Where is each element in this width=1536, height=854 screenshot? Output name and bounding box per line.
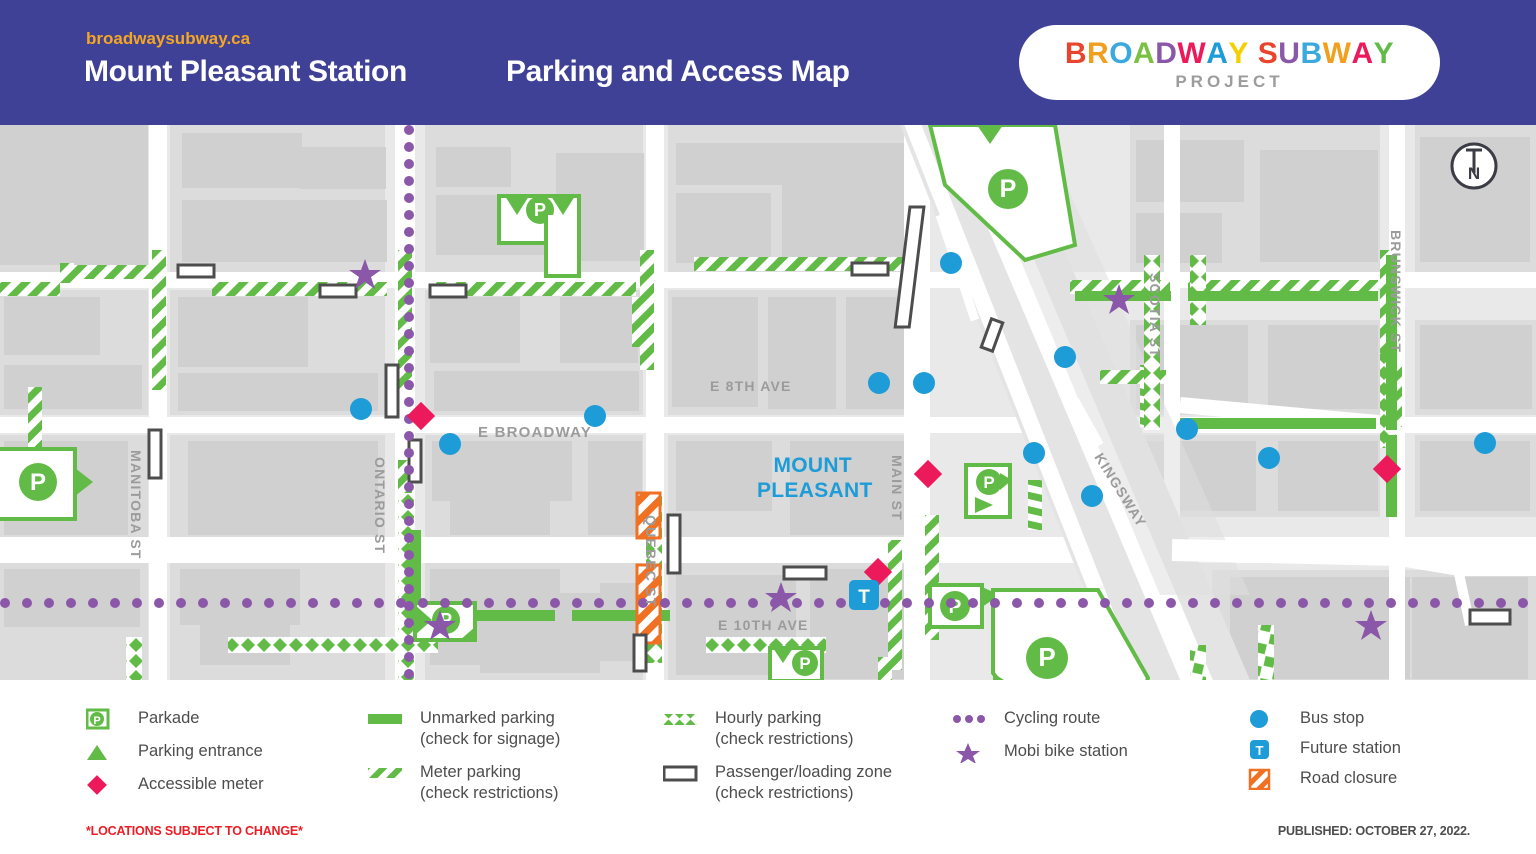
page-subtitle: Parking and Access Map <box>506 55 850 89</box>
mobi-bike-station-icon <box>952 741 992 763</box>
legend-column: P Parkade Parking entrance Accessible me… <box>86 708 264 802</box>
station-label-line2: PLEASANT <box>757 478 873 503</box>
station-label-line1: MOUNT <box>757 453 852 478</box>
svg-text:P: P <box>1038 642 1055 672</box>
passenger-loading-icon <box>663 762 703 784</box>
legend-sublabel: (check restrictions) <box>420 783 560 804</box>
svg-text:N: N <box>1468 164 1480 183</box>
svg-text:T: T <box>1256 743 1264 758</box>
legend-sublabel: (check restrictions) <box>715 729 892 750</box>
legend-label: Cycling route <box>1004 708 1128 729</box>
header-url[interactable]: broadwaysubway.ca <box>86 29 250 49</box>
legend-column: Bus stop T Future station Road closure <box>1248 708 1401 796</box>
legend-item-unmarked-parking: Unmarked parking (check for signage) <box>368 708 560 750</box>
legend-label: Parking entrance <box>138 741 264 762</box>
legend-label: Meter parking <box>420 762 560 783</box>
svg-text:P: P <box>93 715 100 727</box>
parkade-icon: P <box>86 708 126 730</box>
parking-entrance-icon <box>86 741 126 763</box>
legend-label: Future station <box>1300 738 1401 759</box>
broadway-subway-logo: BROADWAY SUBWAY PROJECT <box>1019 25 1440 100</box>
logo-wordmark: BROADWAY SUBWAY <box>1019 37 1440 71</box>
future-station-icon: T <box>1248 738 1288 760</box>
legend-sublabel: (check for signage) <box>420 729 560 750</box>
footer-disclaimer: *LOCATIONS SUBJECT TO CHANGE* <box>86 824 303 838</box>
cycling-route-icon <box>952 708 992 730</box>
legend-column: Cycling route Mobi bike station <box>952 708 1128 769</box>
compass-rose: N <box>1452 144 1496 188</box>
page-title: Mount Pleasant Station <box>84 55 407 89</box>
station-label: MOUNT PLEASANT <box>757 453 873 503</box>
legend-item-meter-parking: Meter parking (check restrictions) <box>368 762 560 804</box>
legend-item-passenger-loading: Passenger/loading zone (check restrictio… <box>663 762 892 804</box>
road-closure-icon <box>1248 768 1288 790</box>
legend-column: Hourly parking (check restrictions) Pass… <box>663 708 892 811</box>
legend-item-bus-stop: Bus stop <box>1248 708 1401 729</box>
hourly-parking-icon <box>663 708 703 730</box>
legend-item-accessible-meter: Accessible meter <box>86 774 264 795</box>
bus-stop-icon <box>1248 708 1288 730</box>
legend-label: Accessible meter <box>138 774 264 795</box>
legend-item-hourly-parking: Hourly parking (check restrictions) <box>663 708 892 750</box>
svg-text:P: P <box>983 473 994 492</box>
legend-sublabel: (check restrictions) <box>715 783 892 804</box>
parking-access-map[interactable]: P P P P <box>0 125 1536 680</box>
unmarked-parking-icon <box>368 708 408 730</box>
future-station-marker: T <box>849 580 879 610</box>
svg-text:P: P <box>1000 175 1017 203</box>
parkade-marker: P <box>966 465 1012 517</box>
parkade-marker: P <box>770 648 822 680</box>
legend-label: Unmarked parking <box>420 708 560 729</box>
legend-item-road-closure: Road closure <box>1248 768 1401 789</box>
meter-parking-icon <box>368 762 408 784</box>
legend-label: Road closure <box>1300 768 1401 789</box>
road-closure-zones <box>637 493 660 643</box>
svg-text:P: P <box>30 469 46 496</box>
legend-item-cycling-route: Cycling route <box>952 708 1128 729</box>
legend-item-mobi-bike-station: Mobi bike station <box>952 741 1128 762</box>
footer-published-date: PUBLISHED: OCTOBER 27, 2022. <box>1278 824 1470 838</box>
svg-text:P: P <box>799 654 810 673</box>
legend-column: Unmarked parking (check for signage) Met… <box>368 708 560 811</box>
legend-item-future-station: T Future station <box>1248 738 1401 759</box>
legend-label: Bus stop <box>1300 708 1401 729</box>
page-header: broadwaysubway.ca Mount Pleasant Station… <box>0 0 1536 125</box>
legend-label: Parkade <box>138 708 264 729</box>
legend-item-parkade: P Parkade <box>86 708 264 729</box>
legend-item-parking-entrance: Parking entrance <box>86 741 264 762</box>
map-canvas: P P P P <box>0 125 1536 680</box>
legend-label: Hourly parking <box>715 708 892 729</box>
legend-label: Passenger/loading zone <box>715 762 892 783</box>
svg-text:T: T <box>858 587 870 608</box>
accessible-meter-icon <box>86 774 126 796</box>
legend-label: Mobi bike station <box>1004 741 1128 762</box>
logo-subtext: PROJECT <box>1019 72 1440 92</box>
